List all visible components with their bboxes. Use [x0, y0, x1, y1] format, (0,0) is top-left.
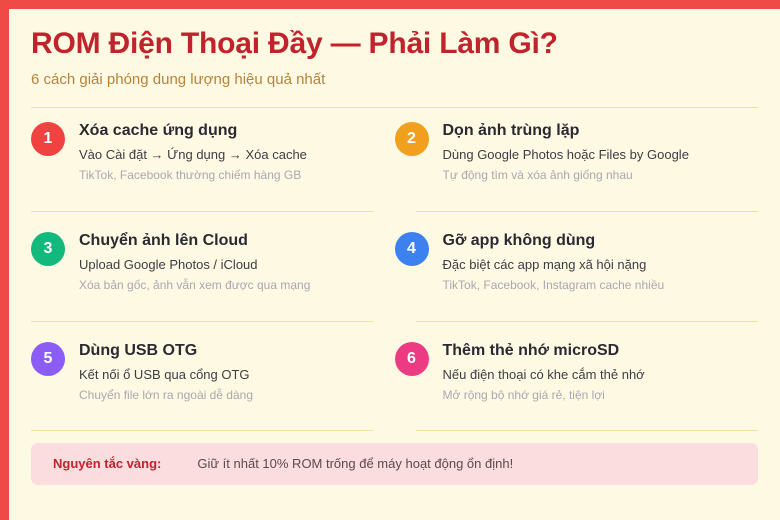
- tip-note-3: Xóa bản gốc, ảnh vẫn xem được qua mạng: [79, 278, 385, 294]
- tip-body-4: Gỡ app không dùng Đặc biệt các app mạng …: [443, 231, 749, 294]
- poster-content: ROM Điện Thoại Đầy — Phải Làm Gì? 6 cách…: [9, 9, 780, 520]
- divider-segment-right: [416, 321, 758, 322]
- divider-gap: [373, 211, 417, 212]
- tips-divider-2: [31, 321, 758, 322]
- tip-title-5: Dùng USB OTG: [79, 341, 385, 361]
- tips-row-3: 5 Dùng USB OTG Kết nối ổ USB qua cổng OT…: [31, 328, 758, 424]
- golden-rule-text: Giữ ít nhất 10% ROM trống để máy hoạt độ…: [197, 456, 513, 471]
- tip-desc-4: Đặc biệt các app mạng xã hội nặng: [443, 256, 749, 274]
- tip-body-6: Thêm thẻ nhớ microSD Nếu điện thoại có k…: [443, 341, 749, 404]
- top-accent-bar: [0, 0, 780, 9]
- tip-body-5: Dùng USB OTG Kết nối ổ USB qua cổng OTG …: [79, 341, 385, 404]
- tip-desc-6: Nếu điện thoại có khe cắm thẻ nhớ: [443, 366, 749, 384]
- divider-gap: [373, 430, 417, 431]
- divider-segment-left: [31, 430, 373, 431]
- tips-row-2: 3 Chuyển ảnh lên Cloud Upload Google Pho…: [31, 218, 758, 314]
- divider-segment-right: [416, 211, 758, 212]
- divider-segment-left: [31, 321, 373, 322]
- tip-title-4: Gỡ app không dùng: [443, 231, 749, 251]
- tip-note-4: TikTok, Facebook, Instagram cache nhiều: [443, 278, 749, 294]
- tip-number-badge-4: 4: [395, 232, 429, 266]
- tip-title-1: Xóa cache ứng dụng: [79, 121, 385, 141]
- tip-body-1: Xóa cache ứng dụng Vào Cài đặt → Ứng dụn…: [79, 121, 385, 184]
- tip-desc-5: Kết nối ổ USB qua cổng OTG: [79, 366, 385, 384]
- golden-rule-label: Nguyên tắc vàng:: [53, 456, 161, 471]
- tip-card-1[interactable]: 1 Xóa cache ứng dụng Vào Cài đặt → Ứng d…: [31, 108, 395, 204]
- divider-segment-left: [31, 211, 373, 212]
- left-accent-bar: [0, 0, 9, 520]
- tip-card-4[interactable]: 4 Gỡ app không dùng Đặc biệt các app mạn…: [395, 218, 759, 314]
- page-subtitle: 6 cách giải phóng dung lượng hiệu quả nh…: [31, 71, 758, 89]
- tip-title-6: Thêm thẻ nhớ microSD: [443, 341, 749, 361]
- tip-desc-1: Vào Cài đặt → Ứng dụng → Xóa cache: [79, 146, 385, 164]
- tip-body-2: Dọn ảnh trùng lặp Dùng Google Photos hoặ…: [443, 121, 749, 184]
- tip-note-5: Chuyển file lớn ra ngoài dễ dàng: [79, 388, 385, 404]
- tip-card-5[interactable]: 5 Dùng USB OTG Kết nối ổ USB qua cổng OT…: [31, 328, 395, 424]
- tip-desc-3: Upload Google Photos / iCloud: [79, 256, 385, 274]
- golden-rule-banner: Nguyên tắc vàng: Giữ ít nhất 10% ROM trố…: [31, 443, 758, 485]
- tips-row-1: 1 Xóa cache ứng dụng Vào Cài đặt → Ứng d…: [31, 108, 758, 204]
- tips-divider-1: [31, 211, 758, 212]
- tips-grid: 1 Xóa cache ứng dụng Vào Cài đặt → Ứng d…: [31, 108, 758, 424]
- tip-note-2: Tự động tìm và xóa ảnh giống nhau: [443, 168, 749, 184]
- tip-number-badge-6: 6: [395, 342, 429, 376]
- tip-number-badge-3: 3: [31, 232, 65, 266]
- tip-card-6[interactable]: 6 Thêm thẻ nhớ microSD Nếu điện thoại có…: [395, 328, 759, 424]
- footer-divider: [31, 430, 758, 431]
- divider-gap: [373, 321, 417, 322]
- tip-number-badge-2: 2: [395, 122, 429, 156]
- tip-note-1: TikTok, Facebook thường chiếm hàng GB: [79, 168, 385, 184]
- tip-title-2: Dọn ảnh trùng lặp: [443, 121, 749, 141]
- tip-body-3: Chuyển ảnh lên Cloud Upload Google Photo…: [79, 231, 385, 294]
- infographic-poster: ROM Điện Thoại Đầy — Phải Làm Gì? 6 cách…: [0, 0, 780, 520]
- tip-note-6: Mở rộng bộ nhớ giá rẻ, tiện lợi: [443, 388, 749, 404]
- page-title: ROM Điện Thoại Đầy — Phải Làm Gì?: [31, 27, 758, 62]
- tip-title-3: Chuyển ảnh lên Cloud: [79, 231, 385, 251]
- tip-number-badge-1: 1: [31, 122, 65, 156]
- tip-card-3[interactable]: 3 Chuyển ảnh lên Cloud Upload Google Pho…: [31, 218, 395, 314]
- divider-segment-right: [416, 430, 758, 431]
- tip-card-2[interactable]: 2 Dọn ảnh trùng lặp Dùng Google Photos h…: [395, 108, 759, 204]
- tip-desc-2: Dùng Google Photos hoặc Files by Google: [443, 146, 749, 164]
- tip-number-badge-5: 5: [31, 342, 65, 376]
